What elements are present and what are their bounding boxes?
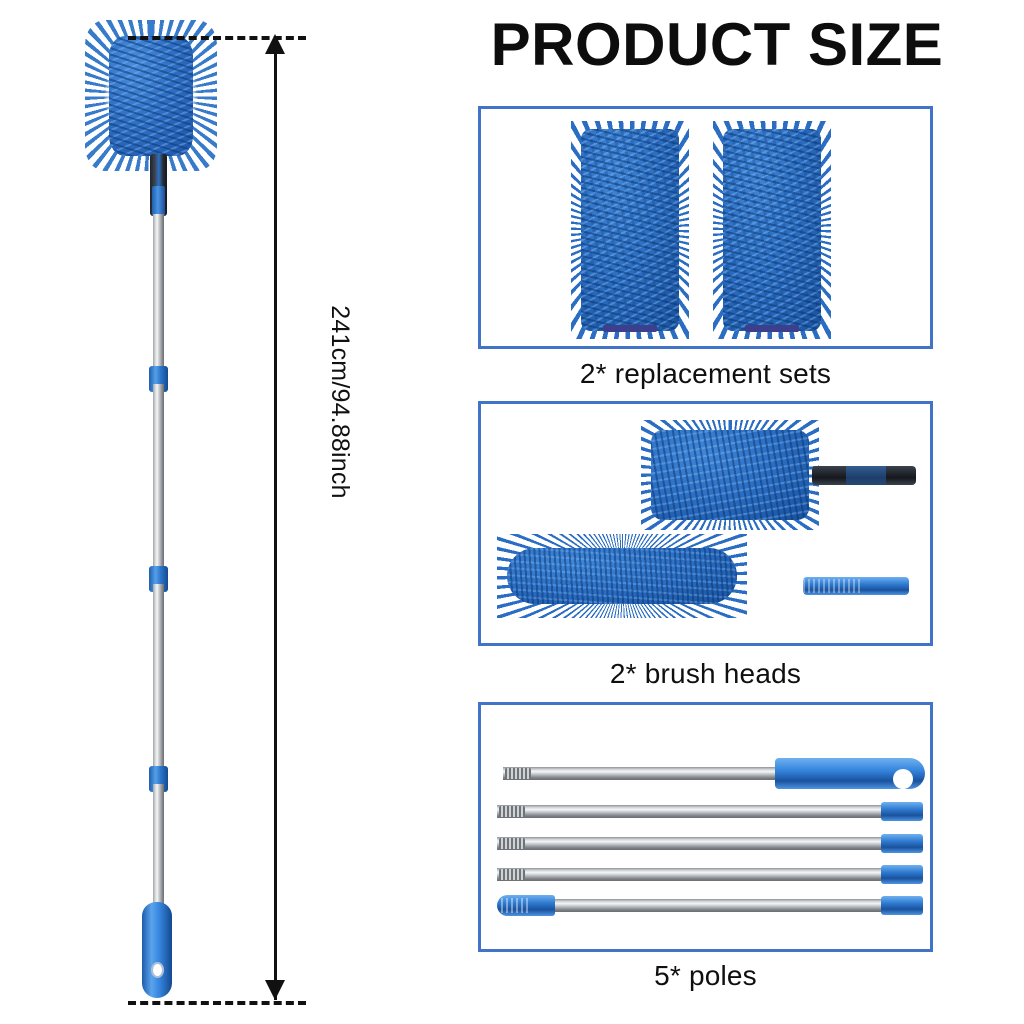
- pole-thread-end: [505, 768, 531, 779]
- pole-item-3: [497, 837, 923, 850]
- pole-hang-hole-icon: [893, 769, 913, 789]
- pole-segment-3: [153, 584, 164, 774]
- dimension-axis-line: [274, 40, 277, 1000]
- dimension-guide-bottom: [128, 1001, 306, 1005]
- head-connector-blue-band: [152, 186, 165, 216]
- pole-segment-2: [153, 384, 164, 574]
- pole-shaft: [545, 899, 887, 912]
- page-title: PRODUCT SIZE: [424, 14, 1010, 76]
- pole-thread-end: [499, 806, 525, 817]
- round-brush-handle: [803, 577, 909, 595]
- duster-head-texture: [109, 36, 193, 156]
- handle-hang-hole-icon: [151, 962, 164, 978]
- flat-brush-texture: [651, 430, 809, 520]
- duster-handle-grip: [142, 902, 172, 998]
- caption-poles: 5* poles: [478, 960, 933, 992]
- pole-thread-end: [499, 869, 525, 880]
- pole-item-4: [497, 868, 923, 881]
- pole-shaft: [503, 767, 793, 780]
- pole-thread-end: [499, 838, 525, 849]
- chenille-pad-right: [713, 121, 831, 339]
- round-brush-texture: [507, 548, 737, 604]
- flat-brush-handle: [812, 466, 916, 485]
- panel-poles: [478, 702, 933, 952]
- pole-item-5: [497, 899, 923, 912]
- panel-replacement-sets: [478, 106, 933, 349]
- dimension-label: 241cm/94.88inch: [326, 292, 354, 512]
- chenille-pad-texture: [581, 129, 679, 331]
- duster-head-icon: [96, 28, 206, 163]
- pole-segment-1: [153, 214, 164, 384]
- round-brush-head: [497, 534, 747, 618]
- caption-replacement-sets: 2* replacement sets: [478, 358, 933, 390]
- assembled-duster-illustration: [0, 0, 420, 1024]
- panel-brush-heads: [478, 401, 933, 646]
- pole-segment-4: [153, 784, 164, 910]
- pole-collar: [881, 865, 923, 884]
- caption-brush-heads: 2* brush heads: [478, 658, 933, 690]
- pole-collar: [881, 896, 923, 915]
- flat-brush-head: [641, 420, 819, 530]
- infographic-canvas: PRODUCT SIZE 241cm/94.88inch: [0, 0, 1024, 1024]
- pole-item-1: [503, 767, 923, 780]
- pole-collar: [881, 834, 923, 853]
- pole-shaft: [497, 837, 887, 850]
- pole-grip-handle: [497, 895, 555, 916]
- dimension-arrow-down-icon: [265, 980, 285, 1000]
- pole-shaft: [497, 805, 887, 818]
- pole-shaft: [497, 868, 887, 881]
- chenille-pad-texture: [723, 129, 821, 331]
- chenille-pad-base: [603, 325, 657, 332]
- chenille-pad-left: [571, 121, 689, 339]
- dimension-arrow-up-icon: [265, 34, 285, 54]
- pole-collar: [881, 802, 923, 821]
- chenille-pad-base: [745, 325, 799, 332]
- pole-item-2: [497, 805, 923, 818]
